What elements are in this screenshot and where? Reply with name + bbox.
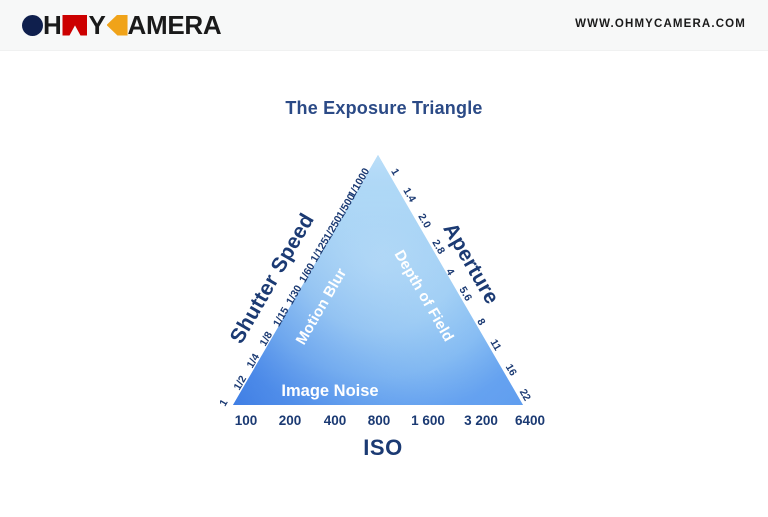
- tick-iso: 100: [235, 413, 258, 428]
- tick-iso: 400: [324, 413, 347, 428]
- tick-iso: 800: [368, 413, 391, 428]
- label-iso: ISO: [363, 435, 402, 461]
- tick-iso: 6400: [515, 413, 545, 428]
- tick-iso: 1 600: [411, 413, 445, 428]
- label-image-noise: Image Noise: [281, 382, 378, 401]
- tick-iso: 200: [279, 413, 302, 428]
- tick-iso: 3 200: [464, 413, 498, 428]
- exposure-triangle-diagram: Shutter Speed Motion Blur 1 1/2 1/4 1/8 …: [0, 0, 768, 512]
